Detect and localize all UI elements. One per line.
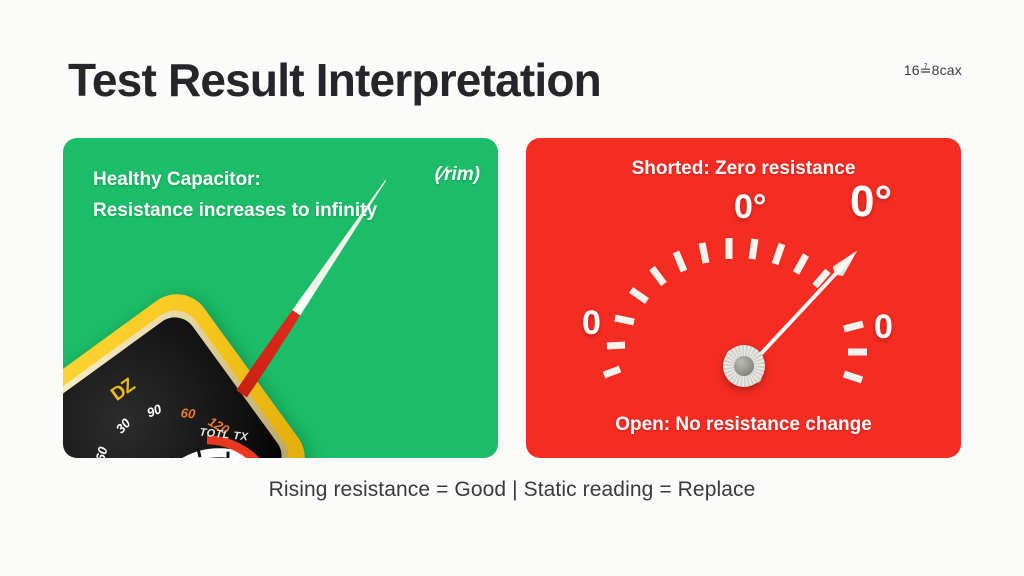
multimeter-photo: DZ 80: [63, 281, 318, 458]
card-healthy-capacitor[interactable]: Healthy Capacitor: Resistance increases …: [63, 138, 498, 458]
red-card-heading-bottom: Open: No resistance change: [615, 414, 872, 436]
green-card-heading-line1: Healthy Capacitor:: [93, 164, 377, 195]
card-shorted-open[interactable]: Shorted: Zero resistance: [526, 138, 961, 458]
gauge-label-top: 0°: [734, 190, 767, 224]
gauge-label-left: 0: [582, 306, 601, 340]
red-card-heading-top: Shorted: Zero resistance: [632, 158, 856, 180]
multimeter-scale-number: 60: [180, 405, 196, 421]
gauge-needle-hub: [723, 345, 765, 387]
green-card-heading: Healthy Capacitor: Resistance increases …: [93, 164, 377, 226]
green-card-unit-tag: (⁄rim): [435, 164, 480, 186]
multimeter-logo: DZ: [107, 375, 139, 407]
slide-root: Test Result Interpretation 16≟8cax Healt…: [0, 0, 1024, 576]
page-title: Test Result Interpretation: [68, 52, 601, 108]
summary-caption: Rising resistance = Good | Static readin…: [0, 478, 1024, 502]
gauge-label-lower-right: 0: [874, 310, 893, 344]
gauge-label-top-right: 0°: [850, 180, 892, 224]
corner-tag: 16≟8cax: [904, 62, 962, 79]
cards-row: Healthy Capacitor: Resistance increases …: [63, 138, 961, 458]
gauge-dial: [526, 138, 961, 458]
green-card-heading-line2: Resistance increases to infinity: [93, 195, 377, 226]
